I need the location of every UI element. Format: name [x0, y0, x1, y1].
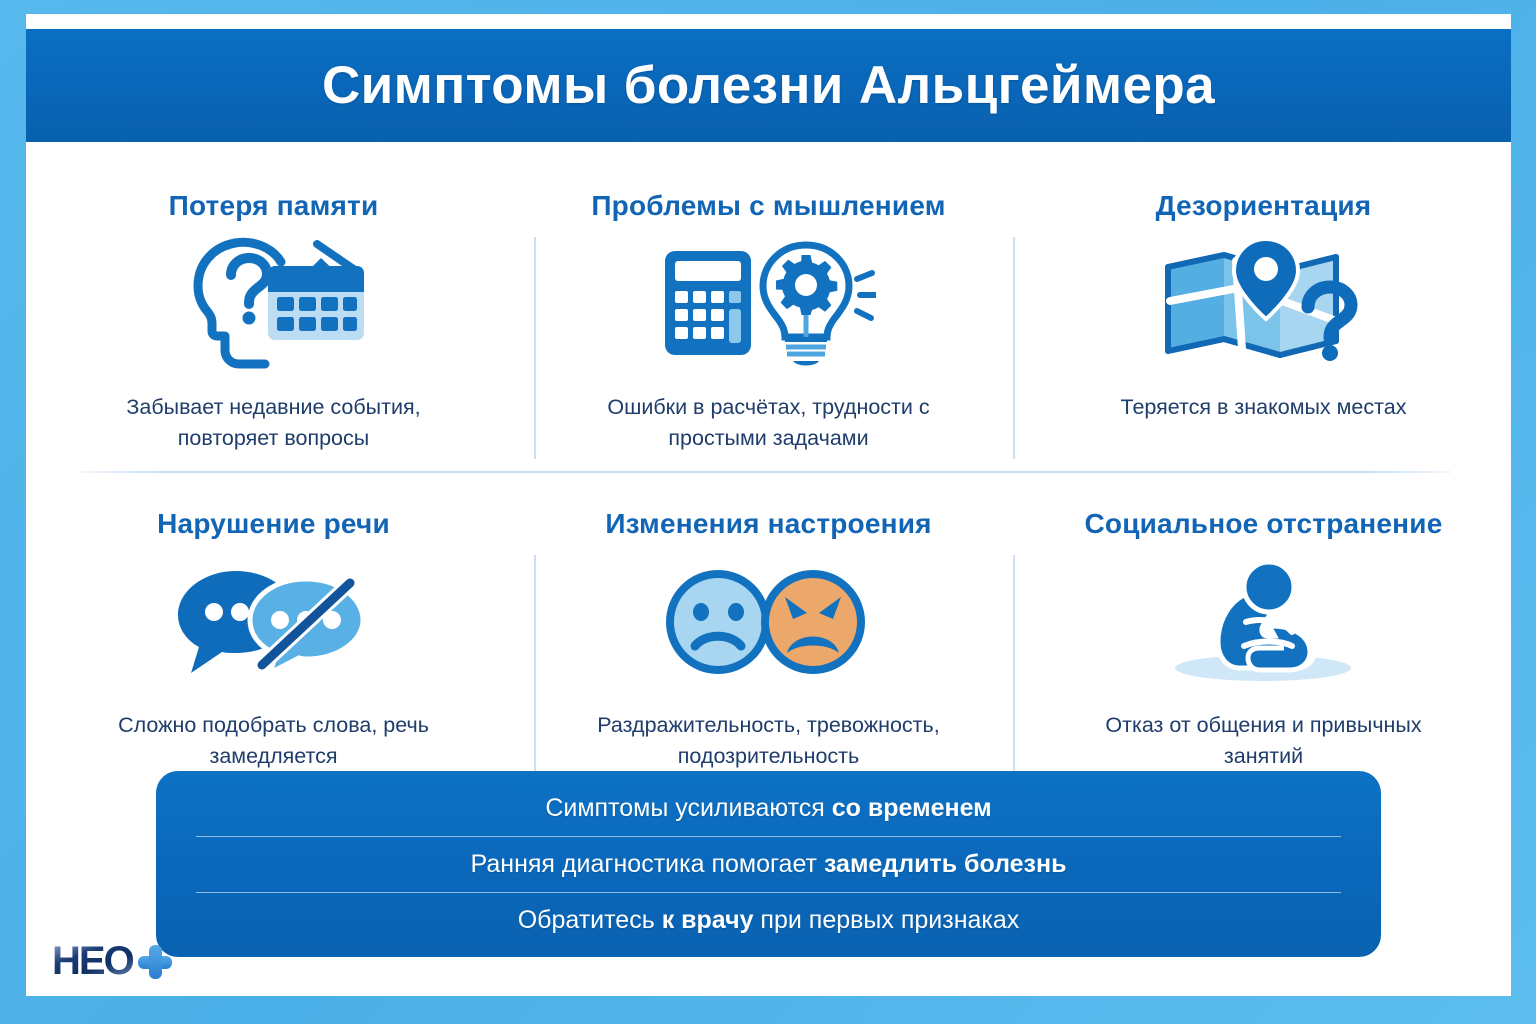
card-title: Потеря памяти	[169, 190, 379, 222]
key-fact-item: Симптомы усиливаются со временем	[196, 781, 1341, 836]
card-description: Отказ от общения и привычных занятий	[1064, 710, 1464, 772]
logo-wordmark: НЕО	[52, 939, 133, 984]
symptom-card-mood-changes: Изменения настроения Р	[521, 480, 1016, 780]
key-fact-item: Обратитесь к врачу при первых признаках	[196, 892, 1341, 948]
title-banner: Симптомы болезни Альцгеймера	[26, 29, 1511, 142]
fact-text-plain-after: при первых признаках	[753, 906, 1019, 934]
symptom-grid: Потеря памяти	[26, 142, 1511, 762]
symptom-card-thinking-problems: Проблемы с мышлением	[521, 162, 1016, 462]
horizontal-divider	[81, 471, 1451, 473]
person-sitting-alone-icon	[1156, 552, 1371, 692]
poster-canvas: Симптомы болезни Альцгеймера Потеря памя…	[26, 14, 1511, 996]
symptom-card-speech-impairment: Нарушение речи	[26, 480, 521, 780]
symptom-card-memory-loss: Потеря памяти	[26, 162, 521, 462]
card-title: Нарушение речи	[157, 508, 390, 540]
card-description: Забывает недавние события, повторяет воп…	[74, 392, 474, 454]
fact-text-plain: Обратитесь	[518, 906, 662, 934]
speech-bubbles-slash-icon	[166, 552, 381, 692]
brand-logo: НЕО	[52, 939, 172, 984]
fact-text-bold: со временем	[832, 794, 992, 822]
card-description: Ошибки в расчётах, трудности с простыми …	[569, 392, 969, 454]
symptom-card-disorientation: Дезориентация	[1016, 162, 1511, 462]
fact-text-plain: Ранняя диагностика помогает	[471, 850, 824, 878]
fact-text-plain: Симптомы усиливаются	[545, 794, 831, 822]
card-title: Дезориентация	[1156, 190, 1372, 222]
card-title: Изменения настроения	[605, 508, 931, 540]
card-description: Теряется в знакомых местах	[1121, 392, 1407, 423]
map-pin-question-icon	[1156, 234, 1371, 374]
head-question-calendar-icon	[169, 234, 379, 374]
key-fact-item: Ранняя диагностика помогает замедлить бо…	[196, 836, 1341, 892]
card-description: Сложно подобрать слова, речь замедляется	[74, 710, 474, 772]
fact-text-bold: к врачу	[662, 906, 754, 934]
card-title: Проблемы с мышлением	[591, 190, 945, 222]
symptom-row-2: Нарушение речи	[26, 480, 1511, 780]
card-description: Раздражительность, тревожность, подозрит…	[569, 710, 969, 772]
sad-angry-faces-icon	[661, 552, 876, 692]
card-title: Социальное отстранение	[1085, 508, 1443, 540]
calculator-lightbulb-gear-icon	[661, 234, 876, 374]
key-facts-panel: Симптомы усиливаются со временем Ранняя …	[156, 771, 1381, 957]
symptom-card-social-withdrawal: Социальное отстранение	[1016, 480, 1511, 780]
symptom-row-1: Потеря памяти	[26, 162, 1511, 462]
page-title: Симптомы болезни Альцгеймера	[322, 55, 1215, 116]
fact-text-bold: замедлить болезнь	[824, 850, 1067, 878]
plus-icon	[138, 945, 172, 979]
